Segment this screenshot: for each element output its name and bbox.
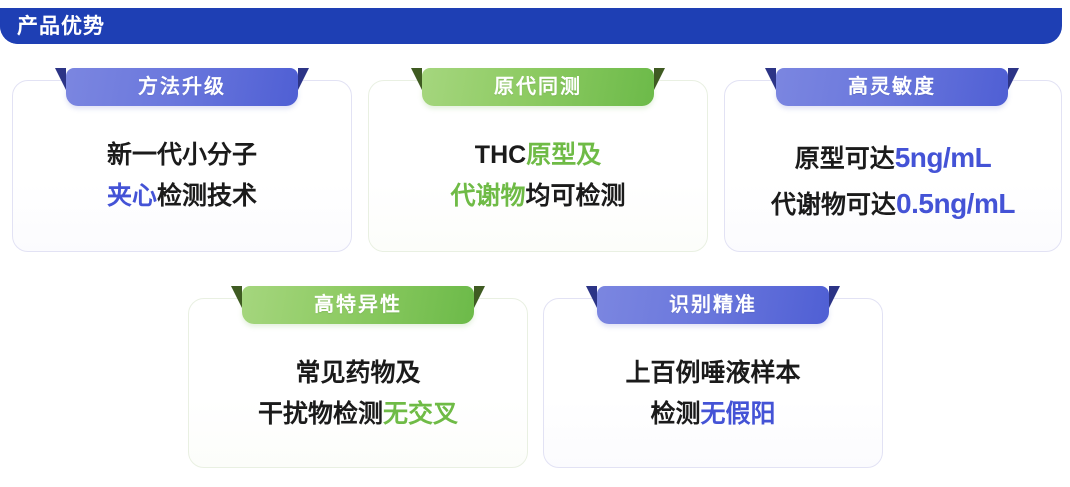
ribbon-fold-right-icon [829, 286, 840, 308]
line-highlight: 5ng/mL [895, 142, 992, 173]
card-line-1: 原型可达5ng/mL [725, 135, 1061, 181]
ribbon-fold-left-icon [765, 68, 776, 90]
ribbon-label: 高灵敏度 [848, 77, 936, 97]
card-body: 上百例唾液样本 检测无假阳 [544, 353, 882, 436]
ribbon-label: 识别精准 [669, 295, 757, 315]
page-title: 产品优势 [17, 16, 105, 37]
ribbon-fold-right-icon [474, 286, 485, 308]
ribbon-fold-left-icon [586, 286, 597, 308]
line-plain-b: 检测技术 [157, 182, 257, 210]
line-highlight: 代谢物 [450, 182, 525, 210]
line-plain-a: 上百例唾液样本 [625, 359, 800, 387]
ribbon-fold-left-icon [231, 286, 242, 308]
card-body: 常见药物及 干扰物检测无交叉 [189, 353, 527, 436]
ribbon-fold-left-icon [411, 68, 422, 90]
line-highlight: 夹心 [107, 182, 157, 210]
section-banner: 产品优势 [0, 8, 1062, 44]
card-body: 新一代小分子 夹心检测技术 [13, 135, 351, 218]
card-line-1: 新一代小分子 [13, 135, 351, 176]
card-line-1: 上百例唾液样本 [544, 353, 882, 394]
line-plain-a: 常见药物及 [295, 359, 420, 387]
ribbon-label: 方法升级 [138, 77, 226, 97]
ribbon-fold-right-icon [298, 68, 309, 90]
card-body: 原型可达5ng/mL 代谢物可达0.5ng/mL [725, 135, 1061, 227]
card-line-2: 干扰物检测无交叉 [189, 394, 527, 435]
card-ribbon-high-sensitivity: 高灵敏度 [776, 68, 1008, 106]
card-line-2: 代谢物均可检测 [369, 176, 707, 217]
ribbon-fold-left-icon [55, 68, 66, 90]
ribbon-fold-right-icon [1008, 68, 1019, 90]
line-plain-a: 检测 [650, 400, 700, 428]
card-line-2: 夹心检测技术 [13, 176, 351, 217]
card-body: THC原型及 代谢物均可检测 [369, 135, 707, 218]
line-plain-a: 代谢物可达 [771, 191, 896, 219]
ribbon-label: 原代同测 [494, 77, 582, 97]
card-line-1: THC原型及 [369, 135, 707, 176]
line-plain-a: THC [475, 141, 526, 169]
line-highlight: 无交叉 [383, 400, 458, 428]
line-highlight: 无假阳 [701, 400, 776, 428]
line-plain-a: 干扰物检测 [258, 400, 383, 428]
line-plain-b: 均可检测 [526, 182, 626, 210]
card-line-2: 代谢物可达0.5ng/mL [725, 181, 1061, 227]
card-ribbon-high-specificity: 高特异性 [242, 286, 474, 324]
card-line-2: 检测无假阳 [544, 394, 882, 435]
line-plain-a: 原型可达 [795, 145, 895, 173]
card-ribbon-accurate-identification: 识别精准 [597, 286, 829, 324]
line-highlight: 原型及 [526, 141, 601, 169]
line-highlight: 0.5ng/mL [896, 188, 1015, 219]
ribbon-fold-right-icon [654, 68, 665, 90]
ribbon-label: 高特异性 [314, 295, 402, 315]
card-ribbon-method-upgrade: 方法升级 [66, 68, 298, 106]
card-line-1: 常见药物及 [189, 353, 527, 394]
line-plain-a: 新一代小分子 [107, 141, 257, 169]
card-ribbon-parent-and-metabolite: 原代同测 [422, 68, 654, 106]
